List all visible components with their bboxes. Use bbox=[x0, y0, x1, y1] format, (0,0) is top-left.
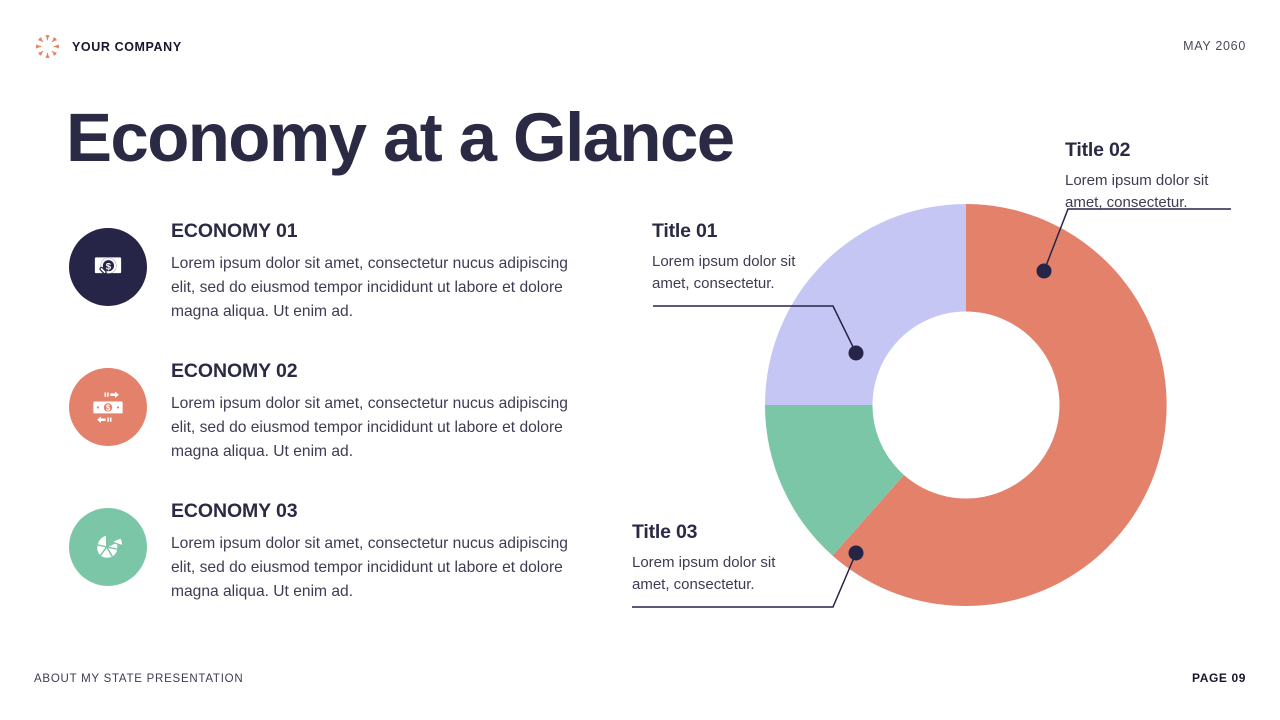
feature-item[interactable]: ECONOMY 03 Lorem ipsum dolor sit amet, c… bbox=[69, 492, 589, 632]
pie-chart-icon bbox=[87, 526, 129, 568]
money-exchange-icon: $ bbox=[86, 385, 130, 429]
feature-badge-economy-01: $ bbox=[69, 228, 147, 306]
feature-heading: ECONOMY 02 bbox=[171, 360, 571, 383]
callout-body: Lorem ipsum dolor sit amet, consectetur. bbox=[632, 552, 812, 595]
footer-page-number: PAGE 09 bbox=[1192, 671, 1246, 685]
feature-heading: ECONOMY 01 bbox=[171, 220, 571, 243]
feature-body: Lorem ipsum dolor sit amet, consectetur … bbox=[171, 392, 571, 465]
callout-title: Title 03 bbox=[632, 521, 812, 544]
callout-body: Lorem ipsum dolor sit amet, consectetur. bbox=[1065, 170, 1245, 213]
footer-presentation-name: ABOUT MY STATE PRESENTATION bbox=[34, 673, 243, 685]
page-title: Economy at a Glance bbox=[66, 99, 734, 177]
feature-list: $ ECONOMY 01 Lorem ipsum dolor sit amet,… bbox=[69, 212, 589, 632]
feature-text: ECONOMY 01 Lorem ipsum dolor sit amet, c… bbox=[171, 212, 571, 325]
flower-ring-logo-icon bbox=[34, 33, 61, 60]
svg-text:$: $ bbox=[106, 404, 111, 413]
feature-body: Lorem ipsum dolor sit amet, consectetur … bbox=[171, 252, 571, 325]
callout-title: Title 02 bbox=[1065, 139, 1245, 162]
feature-item[interactable]: $ ECONOMY 01 Lorem ipsum dolor sit amet,… bbox=[69, 212, 589, 352]
header-date: MAY 2060 bbox=[1183, 39, 1246, 53]
brand-lockup[interactable]: YOUR COMPANY bbox=[34, 33, 182, 60]
feature-body: Lorem ipsum dolor sit amet, consectetur … bbox=[171, 532, 571, 605]
feature-text: ECONOMY 03 Lorem ipsum dolor sit amet, c… bbox=[171, 492, 571, 605]
page-header: YOUR COMPANY MAY 2060 bbox=[0, 0, 1280, 92]
feature-text: ECONOMY 02 Lorem ipsum dolor sit amet, c… bbox=[171, 352, 571, 465]
callout-title: Title 01 bbox=[652, 220, 832, 243]
chart-callout-title-01: Title 01 Lorem ipsum dolor sit amet, con… bbox=[652, 220, 832, 294]
chart-callout-title-03: Title 03 Lorem ipsum dolor sit amet, con… bbox=[632, 521, 812, 595]
feature-heading: ECONOMY 03 bbox=[171, 500, 571, 523]
chart-callout-title-02: Title 02 Lorem ipsum dolor sit amet, con… bbox=[1065, 139, 1245, 213]
donut-hole bbox=[873, 312, 1060, 499]
callout-body: Lorem ipsum dolor sit amet, consectetur. bbox=[652, 251, 832, 294]
money-search-icon: $ bbox=[87, 246, 129, 288]
feature-badge-economy-03 bbox=[69, 508, 147, 586]
feature-item[interactable]: $ ECONOMY 02 Lorem bbox=[69, 352, 589, 492]
feature-badge-economy-02: $ bbox=[69, 368, 147, 446]
svg-text:$: $ bbox=[106, 262, 112, 273]
brand-name: YOUR COMPANY bbox=[72, 40, 182, 54]
